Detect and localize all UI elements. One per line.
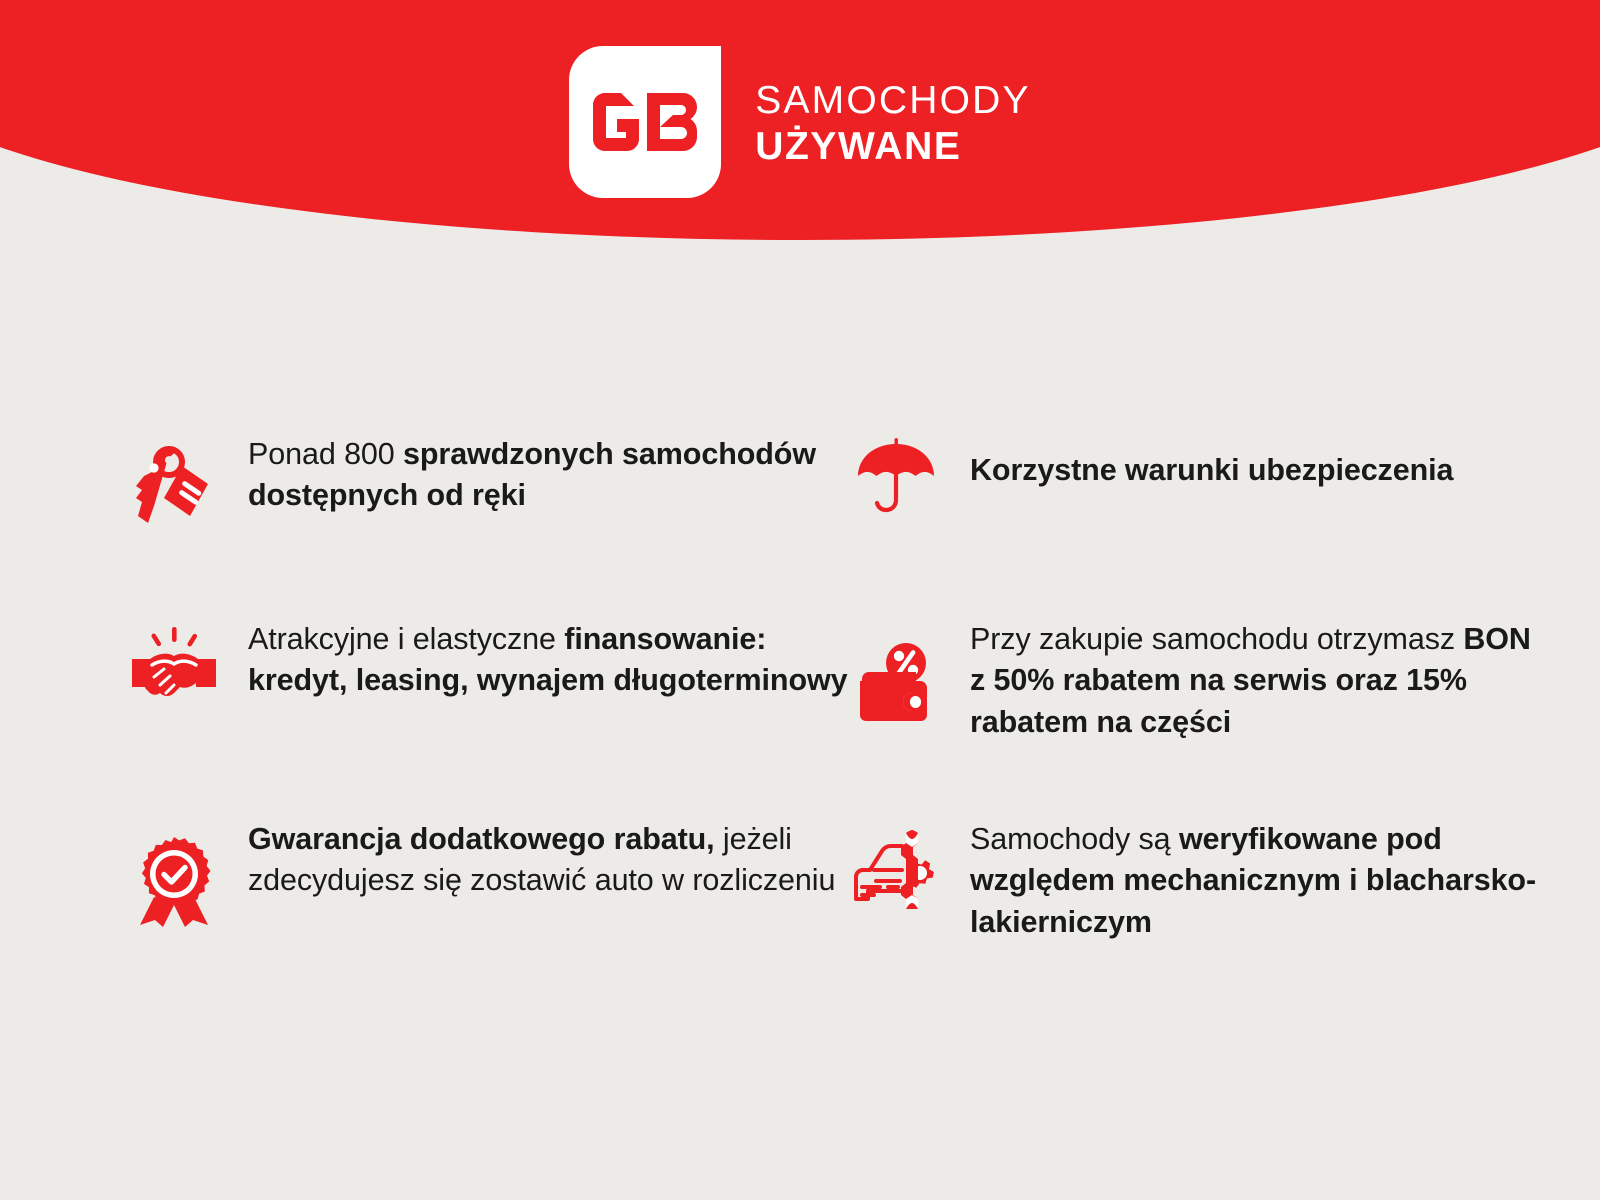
gb-monogram-icon — [593, 93, 697, 151]
features-grid: Ponad 800 sprawdzonych samochodów dostęp… — [0, 430, 1600, 1000]
handshake-icon — [128, 615, 220, 709]
brand-line-2: UŻYWANE — [755, 127, 1031, 166]
header-red-banner: SAMOCHODY UŻYWANE — [0, 0, 1600, 240]
feature-item-insurance: Korzystne warunki ubezpieczenia — [850, 430, 1550, 615]
feature-item-financing: Atrakcyjne i elastyczne finansowanie: kr… — [128, 615, 850, 815]
feature-text-discount-voucher: Przy zakupie samochodu otrzymasz BON z 5… — [970, 615, 1550, 743]
feature-bold-text: Gwarancja dodatkowego rabatu, — [248, 822, 715, 856]
umbrella-icon — [850, 430, 942, 516]
feature-text-insurance: Korzystne warunki ubezpieczenia — [970, 430, 1453, 491]
car-keys-icon — [128, 430, 220, 528]
wallet-percent-icon — [850, 615, 942, 725]
feature-plain-text: Atrakcyjne i elastyczne — [248, 622, 564, 656]
feature-plain-text: Przy zakupie samochodu otrzymasz — [970, 622, 1463, 656]
header-content: SAMOCHODY UŻYWANE — [0, 0, 1600, 240]
feature-bold-text: Korzystne warunki ubezpieczenia — [970, 453, 1453, 487]
feature-item-vehicle-verification: Samochody są weryfikowane pod względem m… — [850, 815, 1550, 1000]
feature-text-financing: Atrakcyjne i elastyczne finansowanie: kr… — [248, 615, 850, 702]
feature-item-trade-in-guarantee: Gwarancja dodatkowego rabatu, jeżeli zde… — [128, 815, 850, 1000]
poster-root: SAMOCHODY UŻYWANE — [0, 0, 1600, 1200]
feature-plain-text: Samochody są — [970, 822, 1179, 856]
brand-wordmark: SAMOCHODY UŻYWANE — [755, 81, 1031, 166]
award-badge-icon — [128, 815, 220, 927]
car-wrench-gear-icon — [850, 815, 942, 913]
feature-item-discount-voucher: Przy zakupie samochodu otrzymasz BON z 5… — [850, 615, 1550, 815]
brand-line-1: SAMOCHODY — [755, 81, 1031, 120]
feature-text-trade-in-guarantee: Gwarancja dodatkowego rabatu, jeżeli zde… — [248, 815, 850, 902]
gb-logo-mark — [569, 46, 721, 198]
feature-text-cars-available: Ponad 800 sprawdzonych samochodów dostęp… — [248, 430, 850, 517]
feature-item-cars-available: Ponad 800 sprawdzonych samochodów dostęp… — [128, 430, 850, 615]
feature-plain-text: Ponad 800 — [248, 437, 403, 471]
feature-text-vehicle-verification: Samochody są weryfikowane pod względem m… — [970, 815, 1550, 943]
